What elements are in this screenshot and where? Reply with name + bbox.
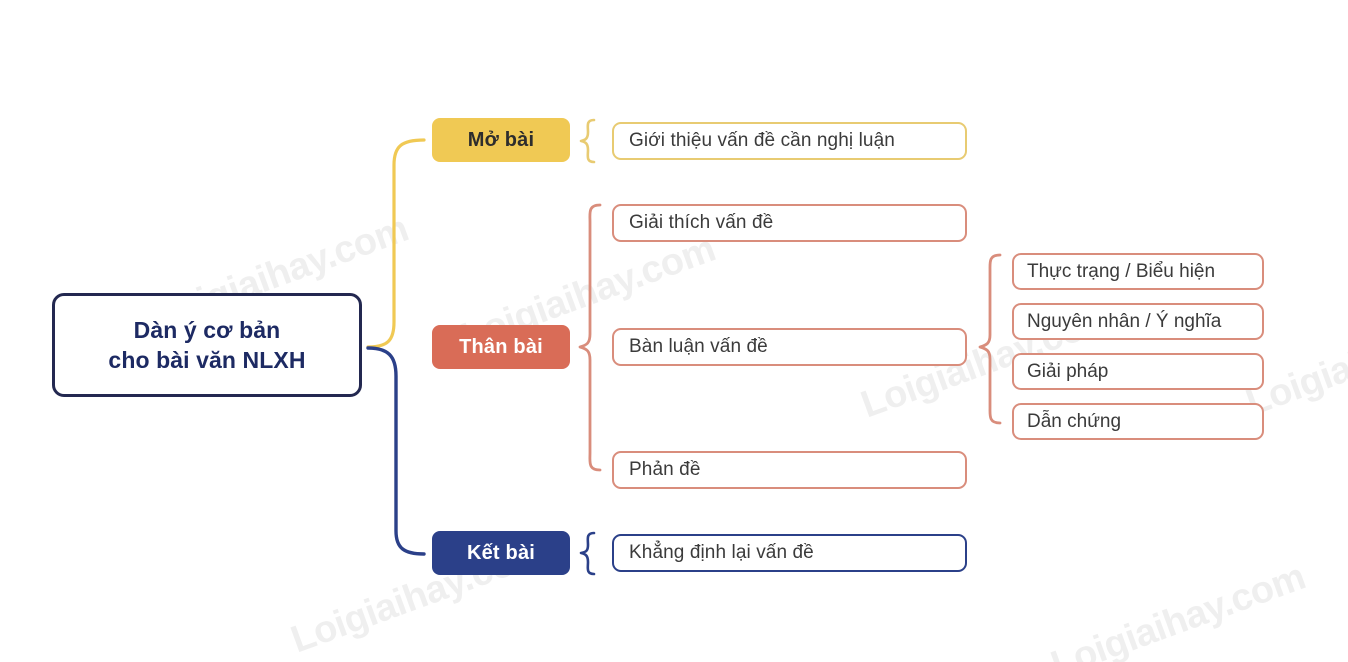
subitem-thuc-trang-bieu-hien[interactable]: Thực trạng / Biểu hiện bbox=[1012, 253, 1264, 290]
leaf-text: Giới thiệu vấn đề cần nghị luận bbox=[629, 130, 895, 152]
branch-label-ket-bai[interactable]: Kết bài bbox=[432, 531, 570, 575]
branch-label-than-bai[interactable]: Thân bài bbox=[432, 325, 570, 369]
subitem-text: Giải pháp bbox=[1027, 361, 1108, 383]
leaf-khang-dinh-lai-van-de[interactable]: Khẳng định lại vấn đề bbox=[612, 534, 967, 572]
watermark: Loigiaihay.com bbox=[1046, 556, 1311, 662]
subitem-dan-chung[interactable]: Dẫn chứng bbox=[1012, 403, 1264, 440]
brace-than-bai bbox=[580, 205, 600, 470]
subitem-text: Dẫn chứng bbox=[1027, 411, 1121, 433]
leaf-gioi-thieu-van-de[interactable]: Giới thiệu vấn đề cần nghị luận bbox=[612, 122, 967, 160]
branch-label-than-bai-text: Thân bài bbox=[459, 336, 543, 359]
connector-root-to-mo-bai bbox=[368, 140, 424, 347]
root-node-line-2: cho bài văn NLXH bbox=[108, 347, 305, 373]
root-node[interactable]: Dàn ý cơ bản cho bài văn NLXH bbox=[52, 293, 362, 397]
leaf-text: Giải thích vấn đề bbox=[629, 212, 773, 234]
mindmap-canvas: Loigiaihay.com Loigiaihay.com Loigiaihay… bbox=[0, 0, 1348, 662]
brace-ban-luan bbox=[980, 255, 1000, 423]
root-node-line-1: Dàn ý cơ bản bbox=[134, 317, 281, 343]
subitem-text: Nguyên nhân / Ý nghĩa bbox=[1027, 311, 1221, 333]
branch-label-ket-bai-text: Kết bài bbox=[467, 542, 535, 565]
brace-ket-bai bbox=[581, 533, 594, 574]
leaf-text: Phản đề bbox=[629, 459, 701, 481]
leaf-ban-luan-van-de[interactable]: Bàn luận vấn đề bbox=[612, 328, 967, 366]
leaf-text: Bàn luận vấn đề bbox=[629, 336, 768, 358]
root-node-text: Dàn ý cơ bản cho bài văn NLXH bbox=[108, 315, 305, 376]
subitem-nguyen-nhan-y-nghia[interactable]: Nguyên nhân / Ý nghĩa bbox=[1012, 303, 1264, 340]
branch-label-mo-bai-text: Mở bài bbox=[468, 129, 535, 152]
leaf-phan-de[interactable]: Phản đề bbox=[612, 451, 967, 489]
connector-root-to-ket-bai bbox=[368, 348, 424, 554]
leaf-giai-thich-van-de[interactable]: Giải thích vấn đề bbox=[612, 204, 967, 242]
brace-mo-bai bbox=[581, 120, 594, 162]
subitem-text: Thực trạng / Biểu hiện bbox=[1027, 261, 1215, 283]
branch-label-mo-bai[interactable]: Mở bài bbox=[432, 118, 570, 162]
subitem-giai-phap[interactable]: Giải pháp bbox=[1012, 353, 1264, 390]
leaf-text: Khẳng định lại vấn đề bbox=[629, 542, 814, 564]
